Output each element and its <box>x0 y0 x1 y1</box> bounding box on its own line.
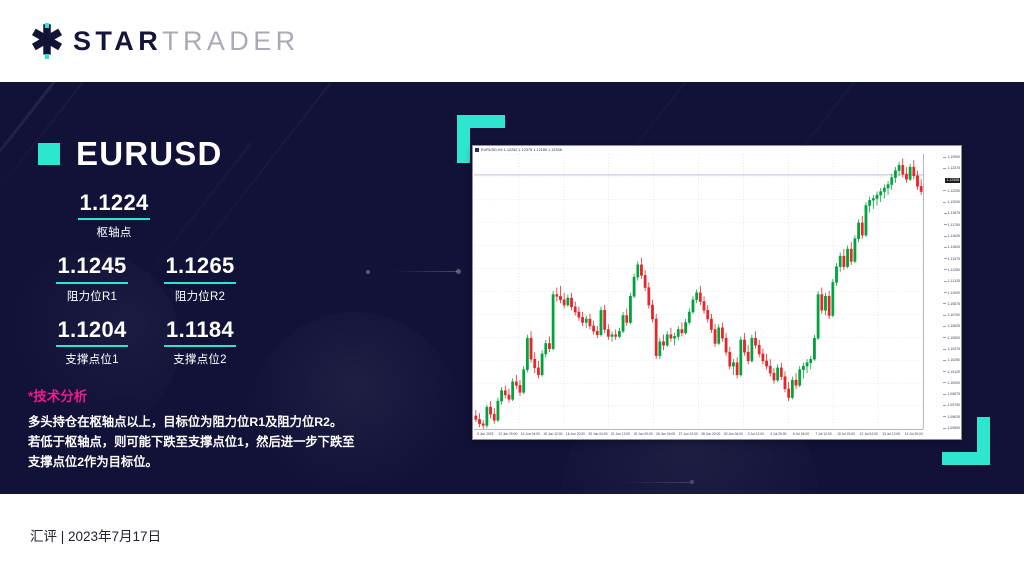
level-value: 1.1245 <box>38 253 146 281</box>
time-tick-label: 12 Jul 04:00 <box>860 432 878 436</box>
price-tick-label: 1.11000 <box>944 291 960 295</box>
level-value: 1.1204 <box>38 317 146 345</box>
footer-text: 汇评 | 2023年7月17日 <box>30 525 161 545</box>
time-tick-label: 26 Jun 04:00 <box>656 432 675 436</box>
bg-hairline-1 <box>392 271 458 272</box>
level-underline <box>78 218 150 220</box>
level-underline <box>56 345 128 347</box>
page-title: EURUSD <box>76 135 223 173</box>
page-header: ✱ STARTRADER <box>0 0 1024 82</box>
price-tick-label: 1.11750 <box>944 223 960 227</box>
level-label: 阻力位R2 <box>146 288 254 304</box>
analysis-line-1: 多头持仓在枢轴点以上，目标位为阻力位R1及阻力位R2。 <box>28 413 398 433</box>
current-price-label: 1.12308 <box>945 178 960 183</box>
time-tick-label: 14 Jul 20:00 <box>905 432 923 436</box>
price-tick-label: 1.10250 <box>943 358 960 362</box>
time-tick-label: 5 Jun 2023 <box>477 432 493 436</box>
level-underline <box>164 282 236 284</box>
levels-block: 1.1224 枢轴点 1.1245 阻力位R1 1.1265 阻力位R2 1.1… <box>38 190 288 380</box>
technical-analysis-block: *技术分析 多头持仓在枢轴点以上，目标位为阻力位R1及阻力位R2。 若低于枢轴点… <box>28 385 398 473</box>
time-tick-label: 16 Jun 20:00 <box>566 432 585 436</box>
price-tick-label: 1.11625 <box>944 234 960 238</box>
title-square-marker <box>38 143 60 165</box>
price-tick-label: 1.10750 <box>943 313 960 317</box>
time-tick-label: 28 Jun 20:00 <box>701 432 720 436</box>
price-tick-label: 1.12000 <box>943 200 960 204</box>
level-value: 1.1184 <box>146 317 254 345</box>
price-tick-label: 1.09625 <box>943 415 960 419</box>
price-tick-label: 1.11875 <box>944 211 960 215</box>
price-tick-label: 1.10625 <box>943 324 960 328</box>
level-value: 1.1224 <box>60 190 168 218</box>
analysis-line-2: 若低于枢轴点，则可能下跌至支撑点位1，然后进一步下跌至 <box>28 433 398 453</box>
chart-window-icon <box>475 148 479 152</box>
price-tick-label: 1.11250 <box>944 268 960 272</box>
chart-title-text: EURUSD,H4 1.12252 1.12375 1.12180 1.1230… <box>481 148 562 152</box>
level-underline <box>164 345 236 347</box>
instrument-title-row: EURUSD <box>38 135 223 173</box>
time-tick-label: 12 Jun 20:00 <box>498 432 517 436</box>
price-tick-label: 1.10875 <box>943 302 960 306</box>
price-tick-label: 1.10375 <box>943 347 960 351</box>
time-tick-label: 21 Jun 12:00 <box>611 432 630 436</box>
time-tick-label: 14 Jun 04:00 <box>521 432 540 436</box>
level-value: 1.1265 <box>146 253 254 281</box>
level-pivot: 1.1224 枢轴点 <box>60 190 168 240</box>
time-tick-label: 15 Jun 12:00 <box>543 432 562 436</box>
price-tick-label: 1.09500 <box>943 426 960 430</box>
time-axis[interactable]: 5 Jun 202312 Jun 20:0014 Jun 04:0015 Jun… <box>474 429 923 439</box>
level-resistance-2: 1.1265 阻力位R2 <box>146 253 254 303</box>
price-tick-label: 1.09750 <box>943 403 960 407</box>
time-tick-label: 30 Jun 04:00 <box>724 432 743 436</box>
level-label: 枢轴点 <box>60 224 168 240</box>
price-tick-label: 1.12375 <box>943 166 960 170</box>
time-tick-label: 27 Jun 12:00 <box>679 432 698 436</box>
time-tick-label: 13 Jul 12:00 <box>882 432 900 436</box>
level-resistance-1: 1.1245 阻力位R1 <box>38 253 146 303</box>
analysis-heading: *技术分析 <box>28 385 398 405</box>
price-tick-label: 1.12500 <box>943 155 960 159</box>
chart-plot-area[interactable] <box>474 154 923 429</box>
page-footer: 汇评 | 2023年7月17日 <box>0 494 1024 576</box>
analysis-line-3: 支撑点位2作为目标位。 <box>28 453 398 473</box>
level-label: 支撑点位2 <box>146 351 254 367</box>
level-label: 支撑点位1 <box>38 351 146 367</box>
bg-dot-1 <box>366 270 370 274</box>
brand-name-light: TRADER <box>162 26 299 57</box>
time-tick-label: 4 Jul 20:00 <box>770 432 786 436</box>
price-tick-label: 1.11500 <box>944 245 960 249</box>
price-tick-label: 1.12250 <box>943 189 960 193</box>
asterisk-icon: ✱ <box>30 23 64 59</box>
time-tick-label: 10 Jul 20:00 <box>837 432 855 436</box>
price-tick-label: 1.10125 <box>943 370 960 374</box>
mt4-chart-window[interactable]: EURUSD,H4 1.12252 1.12375 1.12180 1.1230… <box>472 145 962 440</box>
brand-name-bold: STAR <box>73 26 162 57</box>
price-tick-label: 1.09875 <box>943 392 960 396</box>
time-tick-label: 22 Jun 20:00 <box>634 432 653 436</box>
level-support-2: 1.1184 支撑点位2 <box>146 317 254 367</box>
time-tick-label: 6 Jul 04:00 <box>793 432 809 436</box>
brand-wordmark: STARTRADER <box>73 26 300 57</box>
price-tick-label: 1.10500 <box>943 336 960 340</box>
bg-dot-3 <box>690 480 694 484</box>
level-underline <box>56 282 128 284</box>
time-tick-label: 20 Jun 04:00 <box>588 432 607 436</box>
time-tick-label: 3 Jul 12:00 <box>748 432 764 436</box>
bg-dot-2 <box>456 269 461 274</box>
price-axis[interactable]: 1.125001.123751.123081.122501.120001.118… <box>923 154 961 429</box>
price-tick-label: 1.10000 <box>943 381 960 385</box>
bg-hairline-2 <box>620 482 690 483</box>
content-panel: EURUSD 1.1224 枢轴点 1.1245 阻力位R1 1.1265 阻力… <box>0 82 1024 494</box>
chart-gridlines <box>474 154 923 429</box>
time-tick-label: 7 Jul 12:00 <box>815 432 831 436</box>
price-tick-label: 1.11375 <box>944 257 960 261</box>
level-label: 阻力位R1 <box>38 288 146 304</box>
brand-logo: ✱ STARTRADER <box>30 23 300 59</box>
candlestick-series <box>474 154 923 429</box>
price-tick-label: 1.11125 <box>944 279 960 283</box>
level-support-1: 1.1204 支撑点位1 <box>38 317 146 367</box>
chart-title-bar: EURUSD,H4 1.12252 1.12375 1.12180 1.1230… <box>473 146 961 154</box>
